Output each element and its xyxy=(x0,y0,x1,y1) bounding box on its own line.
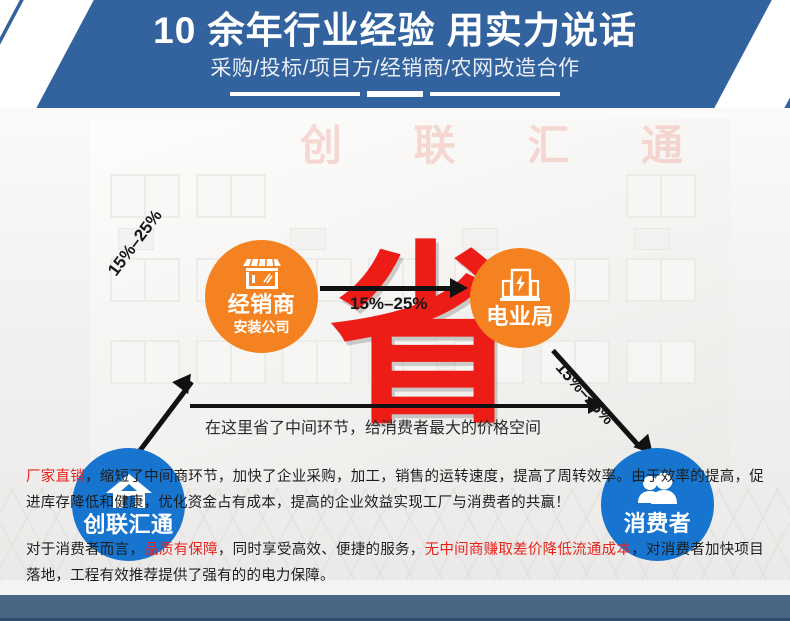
air-conditioner-unit xyxy=(290,228,326,250)
arrow-company-to-consumer-line xyxy=(190,404,590,408)
building-window xyxy=(110,340,180,384)
rule-segment-center xyxy=(367,91,423,97)
building-window xyxy=(626,258,696,302)
paragraph-1-highlight: 厂家直销 xyxy=(26,469,85,485)
paragraph-2: 对于消费者而言，品质有保障，同时享受高效、便捷的服务，无中间商赚取差价降低流通成… xyxy=(26,537,764,589)
paragraph-2-highlight-2: 无中间商赚取差价降低流通成本 xyxy=(425,542,632,558)
arrow-dealer-to-bureau-label: 15%–25% xyxy=(350,294,428,314)
node-bureau-title: 电业局 xyxy=(486,305,554,329)
air-conditioner-unit xyxy=(634,228,670,250)
header-subtitle: 采购/投标/项目方/经销商/农网改造合作 xyxy=(0,56,790,82)
power-building-icon xyxy=(499,268,541,302)
center-note-label: 在这里省了中间环节，给消费者最大的价格空间 xyxy=(205,414,541,438)
header-banner: 10 余年行业经验 用实力说话 采购/投标/项目方/经销商/农网改造合作 xyxy=(0,0,790,108)
building-window xyxy=(626,174,696,218)
paragraph-2-mid: ，同时享受高效、便捷的服务， xyxy=(218,542,425,558)
watermark-text: 创 联 汇 通 xyxy=(300,112,713,173)
header-title: 10 余年行业经验 用实力说话 xyxy=(0,8,790,54)
paragraph-2-lead: 对于消费者而言， xyxy=(26,542,144,558)
building-window xyxy=(626,340,696,384)
node-dealer-title: 经销商 xyxy=(228,293,296,317)
arrow-dealer-to-bureau-head xyxy=(450,278,468,298)
node-bureau[interactable]: 电业局 xyxy=(470,248,570,348)
rule-segment-left xyxy=(230,92,360,96)
node-dealer-subtitle: 安装公司 xyxy=(234,319,290,336)
copy-block: 厂家直销，缩短了中间商环节，加快了企业采购，加工，销售的运转速度，提高了周转效率… xyxy=(0,464,790,589)
paragraph-2-highlight-1: 品质有保障 xyxy=(144,542,218,558)
building-window xyxy=(196,174,266,218)
header-divider-rule xyxy=(230,92,560,96)
node-dealer[interactable]: 经销商 安装公司 xyxy=(205,240,318,353)
footer-bar xyxy=(0,595,790,621)
promo-banner-page: 10 余年行业经验 用实力说话 采购/投标/项目方/经销商/农网改造合作 xyxy=(0,0,790,621)
arrow-dealer-to-bureau-line xyxy=(320,286,452,291)
store-icon xyxy=(240,257,284,290)
rule-gap-right xyxy=(423,92,430,96)
arrow-company-to-consumer-head xyxy=(588,396,604,414)
paragraph-1-body: ，缩短了中间商环节，加快了企业采购，加工，销售的运转速度，提高了周转效率。由于效… xyxy=(26,469,764,511)
rule-gap-left xyxy=(360,92,367,96)
rule-segment-right xyxy=(430,92,560,96)
paragraph-1: 厂家直销，缩短了中间商环节，加快了企业采购，加工，销售的运转速度，提高了周转效率… xyxy=(26,464,764,516)
